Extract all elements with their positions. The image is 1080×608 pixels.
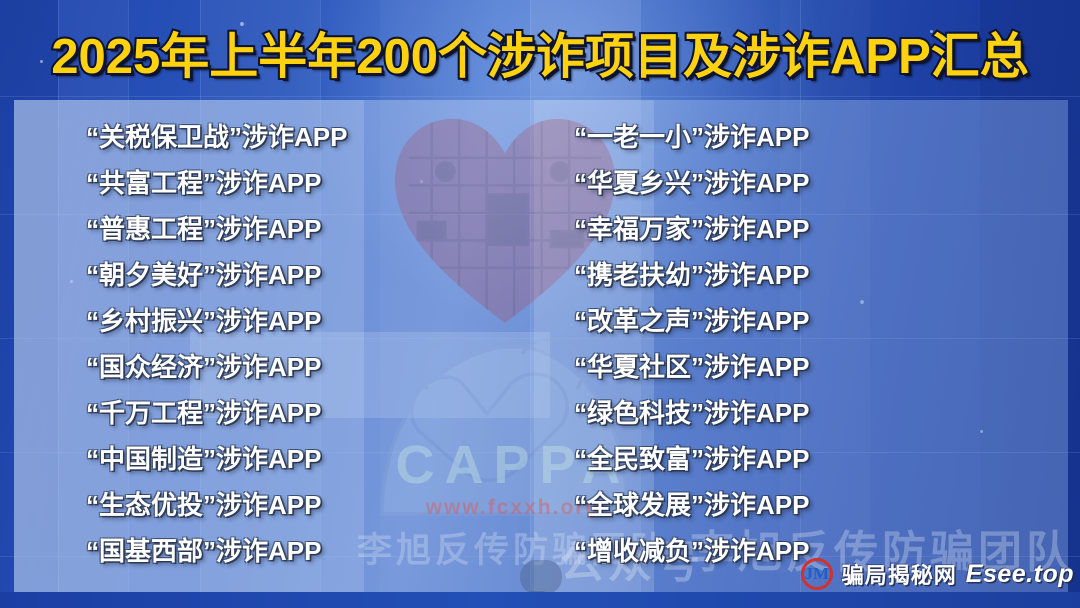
list-item: “华夏社区”涉诈APP <box>574 344 809 390</box>
logo-initials: JM <box>801 558 833 590</box>
list-item: “乡村振兴”涉诈APP <box>86 298 347 344</box>
list-item: “全球发展”涉诈APP <box>574 482 809 528</box>
list-item: “中国制造”涉诈APP <box>86 436 347 482</box>
list-item: “国基西部”涉诈APP <box>86 528 347 574</box>
left-column: “关税保卫战”涉诈APP“共富工程”涉诈APP“普惠工程”涉诈APP“朝夕美好”… <box>86 114 347 574</box>
right-column: “一老一小”涉诈APP“华夏乡兴”涉诈APP“幸福万家”涉诈APP“携老扶幼”涉… <box>574 114 809 574</box>
list-item: “生态优投”涉诈APP <box>86 482 347 528</box>
list-item: “绿色科技”涉诈APP <box>574 390 809 436</box>
list-item: “朝夕美好”涉诈APP <box>86 252 347 298</box>
brand-site-domain: Esee.top <box>966 560 1074 589</box>
brand-strip: JM 骗局揭秘网 Esee.top <box>801 558 1074 590</box>
list-item: “华夏乡兴”涉诈APP <box>574 160 809 206</box>
list-item: “千万工程”涉诈APP <box>86 390 347 436</box>
list-item: “增收减负”涉诈APP <box>574 528 809 574</box>
list-item: “普惠工程”涉诈APP <box>86 206 347 252</box>
list-item: “改革之声”涉诈APP <box>574 298 809 344</box>
brand-site-name: 骗局揭秘网 <box>842 558 957 590</box>
chat-bubble-icon <box>520 560 562 594</box>
bottom-bar <box>0 592 1080 608</box>
list-item: “携老扶幼”涉诈APP <box>574 252 809 298</box>
page-title-container: 2025年上半年200个涉诈项目及涉诈APP汇总 <box>0 26 1080 88</box>
slide-canvas: 2025年上半年200个涉诈项目及涉诈APP汇总 <box>0 0 1080 608</box>
list-item: “一老一小”涉诈APP <box>574 114 809 160</box>
list-item: “幸福万家”涉诈APP <box>574 206 809 252</box>
list-item: “关税保卫战”涉诈APP <box>86 114 347 160</box>
list-item: “国众经济”涉诈APP <box>86 344 347 390</box>
jm-logo-icon: JM <box>801 558 833 590</box>
list-item: “全民致富”涉诈APP <box>574 436 809 482</box>
background-gridline <box>0 96 1080 97</box>
page-title: 2025年上半年200个涉诈项目及涉诈APP汇总 <box>51 33 1029 82</box>
list-item: “共富工程”涉诈APP <box>86 160 347 206</box>
